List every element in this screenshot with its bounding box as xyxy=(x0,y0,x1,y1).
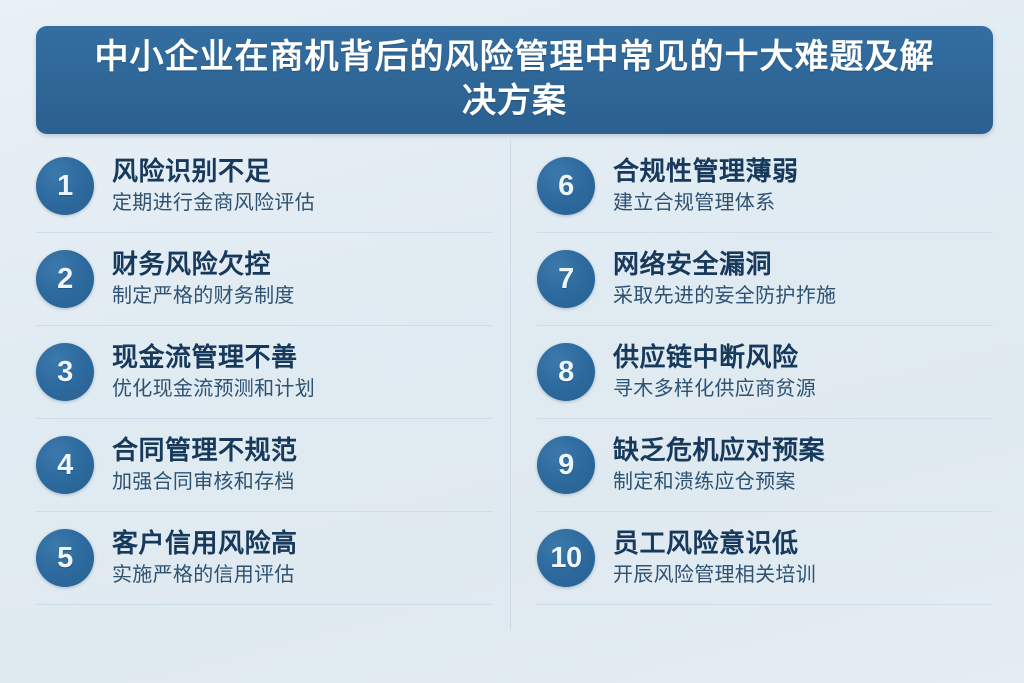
item-subtitle: 制定和溃练应仓预案 xyxy=(613,469,825,495)
item-title: 客户信用风险高 xyxy=(112,528,298,559)
item-subtitle: 优化现金流预测和计划 xyxy=(112,376,315,402)
item-title: 网络安全漏洞 xyxy=(613,249,836,280)
item-number-badge: 3 xyxy=(36,343,94,401)
item-texts: 客户信用风险高 实施严格的信用评估 xyxy=(112,528,298,589)
item-texts: 网络安全漏洞 采取先进的妄全防护拃施 xyxy=(613,249,836,310)
item-subtitle: 寻木多样化供应商贫源 xyxy=(613,376,816,402)
item-number-badge: 10 xyxy=(537,529,595,587)
item-number-badge: 7 xyxy=(537,250,595,308)
item-title: 风险识别不足 xyxy=(112,156,315,187)
right-column: 6 合规性管理薄弱 建立合规管理体系 7 网络安全漏洞 采取先进的妄全防护拃施 … xyxy=(510,140,993,630)
item-texts: 现金流管理不善 优化现金流预测和计划 xyxy=(112,342,315,403)
list-item[interactable]: 1 风险识别不足 定期进行金商风险评估 xyxy=(36,140,492,233)
item-number-badge: 4 xyxy=(36,436,94,494)
list-item[interactable]: 10 员工风险意识低 开辰风险管理相关培训 xyxy=(537,512,993,605)
item-subtitle: 制定严格的财务制度 xyxy=(112,283,295,309)
item-number-badge: 1 xyxy=(36,157,94,215)
item-number-badge: 5 xyxy=(36,529,94,587)
item-texts: 员工风险意识低 开辰风险管理相关培训 xyxy=(613,528,816,589)
item-texts: 风险识别不足 定期进行金商风险评估 xyxy=(112,156,315,217)
item-texts: 缺乏危机应对预案 制定和溃练应仓预案 xyxy=(613,435,825,496)
item-title: 合规性管理薄弱 xyxy=(613,156,799,187)
list-item[interactable]: 2 财务风险欠控 制定严格的财务制度 xyxy=(36,233,492,326)
page-title: 中小企业在商机背后的风险管理中常见的十大难题及解决方案 xyxy=(82,36,947,123)
item-title: 合同管理不规范 xyxy=(112,435,298,466)
item-title: 供应链中断风险 xyxy=(613,342,816,373)
list-item[interactable]: 7 网络安全漏洞 采取先进的妄全防护拃施 xyxy=(537,233,993,326)
list-item[interactable]: 6 合规性管理薄弱 建立合规管理体系 xyxy=(537,140,993,233)
infographic-poster: 中小企业在商机背后的风险管理中常见的十大难题及解决方案 1 风险识别不足 定期进… xyxy=(0,0,1024,683)
item-number-badge: 8 xyxy=(537,343,595,401)
item-title: 员工风险意识低 xyxy=(613,528,816,559)
item-title: 缺乏危机应对预案 xyxy=(613,435,825,466)
list-item[interactable]: 4 合同管理不规范 加强合同审核和存档 xyxy=(36,419,492,512)
item-texts: 财务风险欠控 制定严格的财务制度 xyxy=(112,249,295,310)
item-subtitle: 建立合规管理体系 xyxy=(613,190,799,216)
left-column: 1 风险识别不足 定期进行金商风险评估 2 财务风险欠控 制定严格的财务制度 3… xyxy=(36,140,510,630)
item-number-badge: 9 xyxy=(537,436,595,494)
item-texts: 供应链中断风险 寻木多样化供应商贫源 xyxy=(613,342,816,403)
item-title: 现金流管理不善 xyxy=(112,342,315,373)
item-number-badge: 6 xyxy=(537,157,595,215)
item-title: 财务风险欠控 xyxy=(112,249,295,280)
item-texts: 合规性管理薄弱 建立合规管理体系 xyxy=(613,156,799,217)
header-banner: 中小企业在商机背后的风险管理中常见的十大难题及解决方案 xyxy=(36,26,993,134)
item-subtitle: 采取先进的妄全防护拃施 xyxy=(613,283,836,309)
item-subtitle: 实施严格的信用评估 xyxy=(112,562,298,588)
item-subtitle: 定期进行金商风险评估 xyxy=(112,190,315,216)
list-item[interactable]: 5 客户信用风险高 实施严格的信用评估 xyxy=(36,512,492,605)
list-item[interactable]: 3 现金流管理不善 优化现金流预测和计划 xyxy=(36,326,492,419)
item-texts: 合同管理不规范 加强合同审核和存档 xyxy=(112,435,298,496)
list-item[interactable]: 8 供应链中断风险 寻木多样化供应商贫源 xyxy=(537,326,993,419)
item-subtitle: 加强合同审核和存档 xyxy=(112,469,298,495)
list-item[interactable]: 9 缺乏危机应对预案 制定和溃练应仓预案 xyxy=(537,419,993,512)
item-subtitle: 开辰风险管理相关培训 xyxy=(613,562,816,588)
content-columns: 1 风险识别不足 定期进行金商风险评估 2 财务风险欠控 制定严格的财务制度 3… xyxy=(36,140,993,630)
item-number-badge: 2 xyxy=(36,250,94,308)
